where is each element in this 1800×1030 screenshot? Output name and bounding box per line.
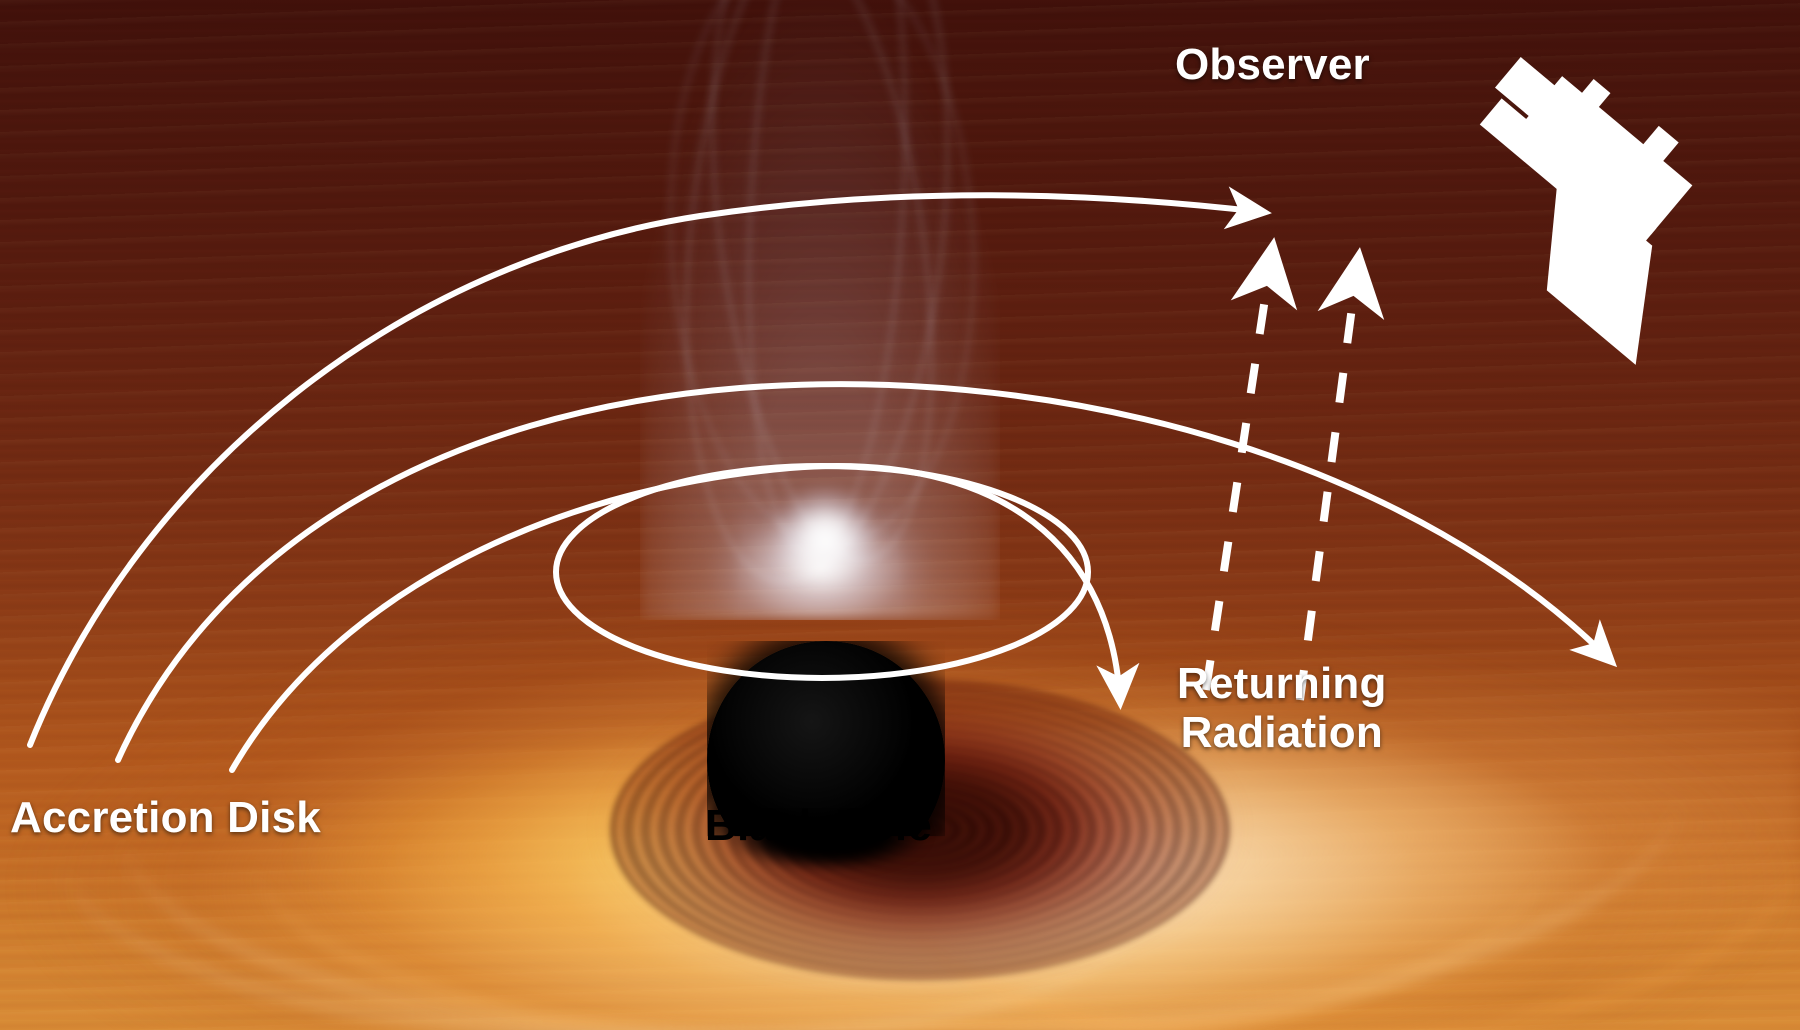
label-black-hole: Black Hole [705,801,932,851]
label-returning-radiation: Returning Radiation [1177,659,1387,758]
illustration-canvas: Observer Accretion Disk Black Hole Retur… [0,0,1800,1030]
label-returning-radiation-line2: Radiation [1177,708,1387,757]
annotation-overlay [0,0,1800,1030]
label-observer: Observer [1175,40,1370,90]
dashed-ray-left [1206,252,1272,690]
photon-ring-ellipse [556,466,1088,678]
telescope-icon [1417,29,1763,365]
label-returning-radiation-line1: Returning [1177,659,1387,708]
label-accretion-disk: Accretion Disk [10,793,321,843]
ray-to-observer-outer [30,195,1262,745]
ray-returning-inner [232,466,1120,770]
